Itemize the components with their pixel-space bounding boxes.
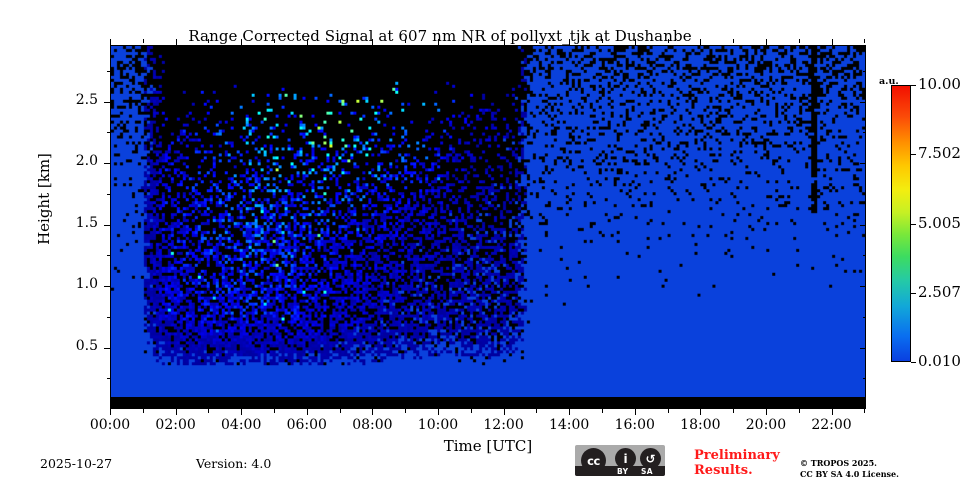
colorbar-tick	[911, 85, 916, 86]
cc-sa-caption: SA	[641, 467, 653, 476]
x-axis-tick	[700, 39, 701, 45]
y-axis-tick	[104, 102, 110, 103]
x-axis-tick	[110, 409, 111, 415]
x-axis-tick	[635, 39, 636, 45]
x-axis-tick-label: 02:00	[141, 417, 211, 433]
colorbar-gradient	[891, 85, 911, 362]
x-axis-tick	[241, 409, 242, 415]
x-axis-tick	[176, 409, 177, 415]
x-axis-tick	[372, 39, 373, 45]
x-axis-minor-tick	[208, 39, 209, 43]
y-axis-minor-tick	[863, 194, 867, 195]
x-axis-tick	[569, 39, 570, 45]
x-axis-tick	[766, 409, 767, 415]
x-axis-tick	[307, 39, 308, 45]
colorbar-tick	[911, 293, 916, 294]
x-axis-minor-tick	[471, 409, 472, 413]
x-axis-tick-label: 00:00	[75, 417, 145, 433]
preliminary-results-note: PreliminaryResults.	[694, 448, 804, 478]
x-axis-tick	[832, 409, 833, 415]
x-axis-tick	[438, 409, 439, 415]
x-axis-tick-label: 08:00	[337, 417, 407, 433]
x-axis-minor-tick	[405, 409, 406, 413]
ground-overlap-band	[111, 397, 865, 408]
colorbar[interactable]	[891, 85, 911, 362]
y-axis-minor-tick	[107, 194, 111, 195]
y-axis-minor-tick	[863, 317, 867, 318]
y-axis-label: Height [km]	[35, 119, 53, 279]
x-axis-tick	[241, 39, 242, 45]
colorbar-tick-label: 5.005	[918, 214, 960, 232]
colorbar-tick-label: 10.000	[918, 75, 960, 93]
x-axis-minor-tick	[340, 39, 341, 43]
x-axis-tick	[766, 39, 767, 45]
y-axis-tick	[860, 102, 866, 103]
x-axis-minor-tick	[143, 409, 144, 413]
x-axis-minor-tick	[733, 409, 734, 413]
heatmap-plot-area[interactable]	[110, 45, 866, 409]
x-axis-tick-label: 06:00	[272, 417, 342, 433]
y-axis-minor-tick	[107, 255, 111, 256]
x-axis-minor-tick	[864, 409, 865, 413]
x-axis-minor-tick	[274, 409, 275, 413]
colorbar-tick-label: 7.502	[918, 144, 960, 162]
y-axis-minor-tick	[107, 378, 111, 379]
y-axis-minor-tick	[863, 71, 867, 72]
y-axis-tick	[104, 286, 110, 287]
x-axis-minor-tick	[471, 39, 472, 43]
y-axis-minor-tick	[863, 255, 867, 256]
x-axis-minor-tick	[405, 39, 406, 43]
x-axis-tick-label: 10:00	[403, 417, 473, 433]
y-axis-minor-tick	[863, 378, 867, 379]
x-axis-tick	[504, 409, 505, 415]
cc-logo-icon: cc	[581, 448, 606, 473]
x-axis-minor-tick	[733, 39, 734, 43]
heatmap-canvas	[111, 46, 865, 408]
copyright-note: © TROPOS 2025.CC BY SA 4.0 License.	[800, 458, 899, 480]
x-axis-tick-label: 16:00	[600, 417, 670, 433]
x-axis-minor-tick	[274, 39, 275, 43]
x-axis-minor-tick	[668, 39, 669, 43]
x-axis-tick-label: 18:00	[665, 417, 735, 433]
y-axis-tick-label: 2.5	[38, 92, 98, 108]
y-axis-minor-tick	[107, 71, 111, 72]
x-axis-minor-tick	[536, 39, 537, 43]
cc-license-badge-icon[interactable]: cc i ↺ BY SA	[575, 445, 665, 476]
x-axis-minor-tick	[340, 409, 341, 413]
cc-by-caption: BY	[617, 467, 628, 476]
footer-date: 2025-10-27	[40, 456, 112, 471]
x-axis-tick-label: 14:00	[534, 417, 604, 433]
colorbar-tick-label: 0.010	[918, 352, 960, 370]
x-axis-tick-label: 22:00	[797, 417, 867, 433]
colorbar-tick	[911, 224, 916, 225]
x-axis-tick	[569, 409, 570, 415]
colorbar-tick	[911, 154, 916, 155]
x-axis-tick	[700, 409, 701, 415]
x-axis-tick	[176, 39, 177, 45]
x-axis-tick	[635, 409, 636, 415]
x-axis-tick	[438, 39, 439, 45]
x-axis-minor-tick	[799, 409, 800, 413]
y-axis-tick	[860, 163, 866, 164]
y-axis-minor-tick	[107, 317, 111, 318]
x-axis-tick-label: 12:00	[469, 417, 539, 433]
x-axis-minor-tick	[602, 409, 603, 413]
y-axis-tick	[860, 286, 866, 287]
x-axis-minor-tick	[668, 409, 669, 413]
x-axis-minor-tick	[143, 39, 144, 43]
x-axis-minor-tick	[602, 39, 603, 43]
x-axis-tick	[504, 39, 505, 45]
y-axis-tick-label: 0.5	[38, 338, 98, 354]
colorbar-tick	[911, 362, 916, 363]
figure-root: Range Corrected Signal at 607 nm NR of p…	[0, 0, 960, 480]
x-axis-minor-tick	[864, 39, 865, 43]
x-axis-tick	[307, 409, 308, 415]
x-axis-tick-label: 04:00	[206, 417, 276, 433]
y-axis-tick	[104, 163, 110, 164]
colorbar-tick-label: 2.507	[918, 283, 960, 301]
x-axis-tick	[110, 39, 111, 45]
x-axis-minor-tick	[536, 409, 537, 413]
y-axis-tick	[860, 348, 866, 349]
x-axis-minor-tick	[208, 409, 209, 413]
y-axis-tick	[104, 348, 110, 349]
y-axis-tick	[860, 225, 866, 226]
x-axis-tick	[372, 409, 373, 415]
y-axis-minor-tick	[107, 132, 111, 133]
x-axis-tick	[832, 39, 833, 45]
page-title: Range Corrected Signal at 607 nm NR of p…	[0, 27, 880, 45]
y-axis-tick	[104, 225, 110, 226]
footer-version: Version: 4.0	[196, 456, 271, 471]
y-axis-minor-tick	[863, 132, 867, 133]
x-axis-minor-tick	[799, 39, 800, 43]
x-axis-tick-label: 20:00	[731, 417, 801, 433]
